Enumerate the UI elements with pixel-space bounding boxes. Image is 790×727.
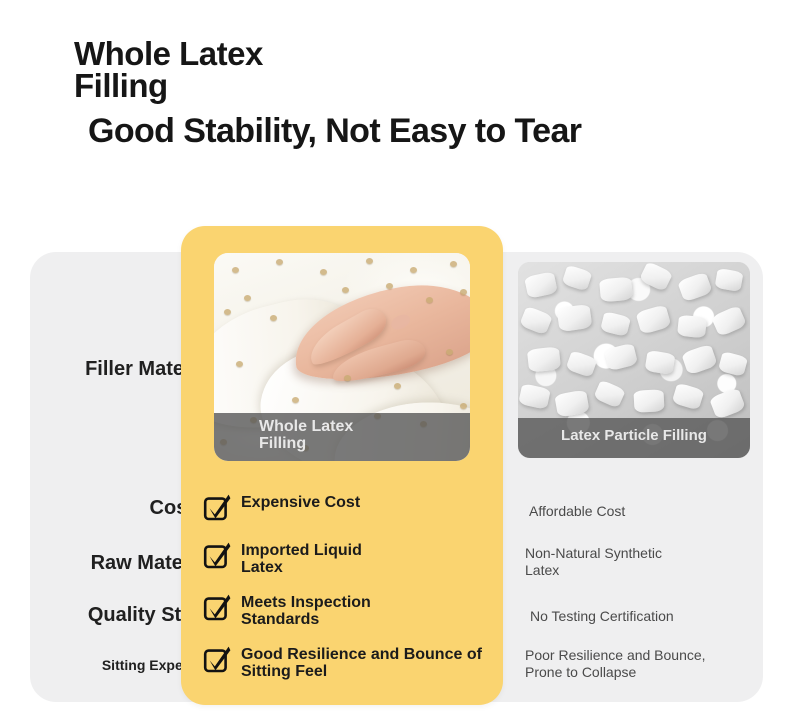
compare-feature-cost: Affordable Cost — [529, 503, 625, 520]
perforation-dot — [394, 383, 401, 389]
perforation-dot — [224, 309, 231, 315]
checkbox-checked-icon — [203, 493, 231, 521]
latex-particle-image: Latex Particle Filling — [518, 262, 750, 458]
comparison-board: Filler Material Cost Raw Materials Quali… — [0, 0, 790, 727]
perforation-dot — [342, 287, 349, 293]
checkbox-checked-icon — [203, 645, 231, 673]
perforation-dot — [386, 283, 393, 289]
highlight-feature-label: Imported Liquid Latex — [241, 540, 362, 577]
latex-particle-caption: Latex Particle Filling — [518, 418, 750, 458]
perforation-dot — [446, 349, 453, 355]
perforation-dot — [270, 315, 277, 321]
highlight-feature-raw-materials: Imported Liquid Latex — [203, 540, 503, 577]
perforation-dot — [232, 267, 239, 273]
highlight-feature-cost: Expensive Cost — [203, 492, 503, 521]
highlight-feature-label: Good Resilience and Bounce of Sitting Fe… — [241, 644, 482, 681]
hand-shape — [287, 274, 470, 390]
checkbox-checked-icon — [203, 593, 231, 621]
whole-latex-media-card: Whole Latex Filling — [214, 253, 470, 461]
row-label-cost: Cost — [44, 497, 194, 520]
perforation-dot — [244, 295, 251, 301]
highlight-feature-label: Meets Inspection Standards — [241, 592, 371, 629]
highlight-feature-quality-standards: Meets Inspection Standards — [203, 592, 503, 629]
perforation-dot — [344, 375, 351, 381]
highlight-card-whole-latex: Whole Latex Filling Expensive Cost Impor… — [181, 226, 503, 705]
checkbox-checked-icon — [203, 541, 231, 569]
perforation-dot — [236, 361, 243, 367]
compare-feature-quality-standards: No Testing Certification — [530, 608, 674, 625]
whole-latex-caption: Whole Latex Filling — [214, 413, 470, 461]
highlight-feature-sitting-experience: Good Resilience and Bounce of Sitting Fe… — [203, 644, 503, 681]
perforation-dot — [426, 297, 433, 303]
whole-latex-image: Whole Latex Filling — [214, 253, 470, 461]
fingernail-shape — [389, 312, 413, 333]
perforation-dot — [460, 403, 467, 409]
perforation-dot — [460, 289, 467, 295]
perforation-dot — [276, 259, 283, 265]
latex-particle-media-card: Latex Particle Filling — [518, 262, 750, 458]
compare-feature-sitting-experience: Poor Resilience and Bounce, Prone to Col… — [525, 647, 706, 681]
perforation-dot — [320, 269, 327, 275]
perforation-dot — [366, 258, 373, 264]
compare-feature-raw-materials: Non-Natural Synthetic Latex — [525, 545, 662, 579]
highlight-feature-label: Expensive Cost — [241, 492, 360, 511]
perforation-dot — [410, 267, 417, 273]
perforation-dot — [292, 397, 299, 403]
perforation-dot — [450, 261, 457, 267]
